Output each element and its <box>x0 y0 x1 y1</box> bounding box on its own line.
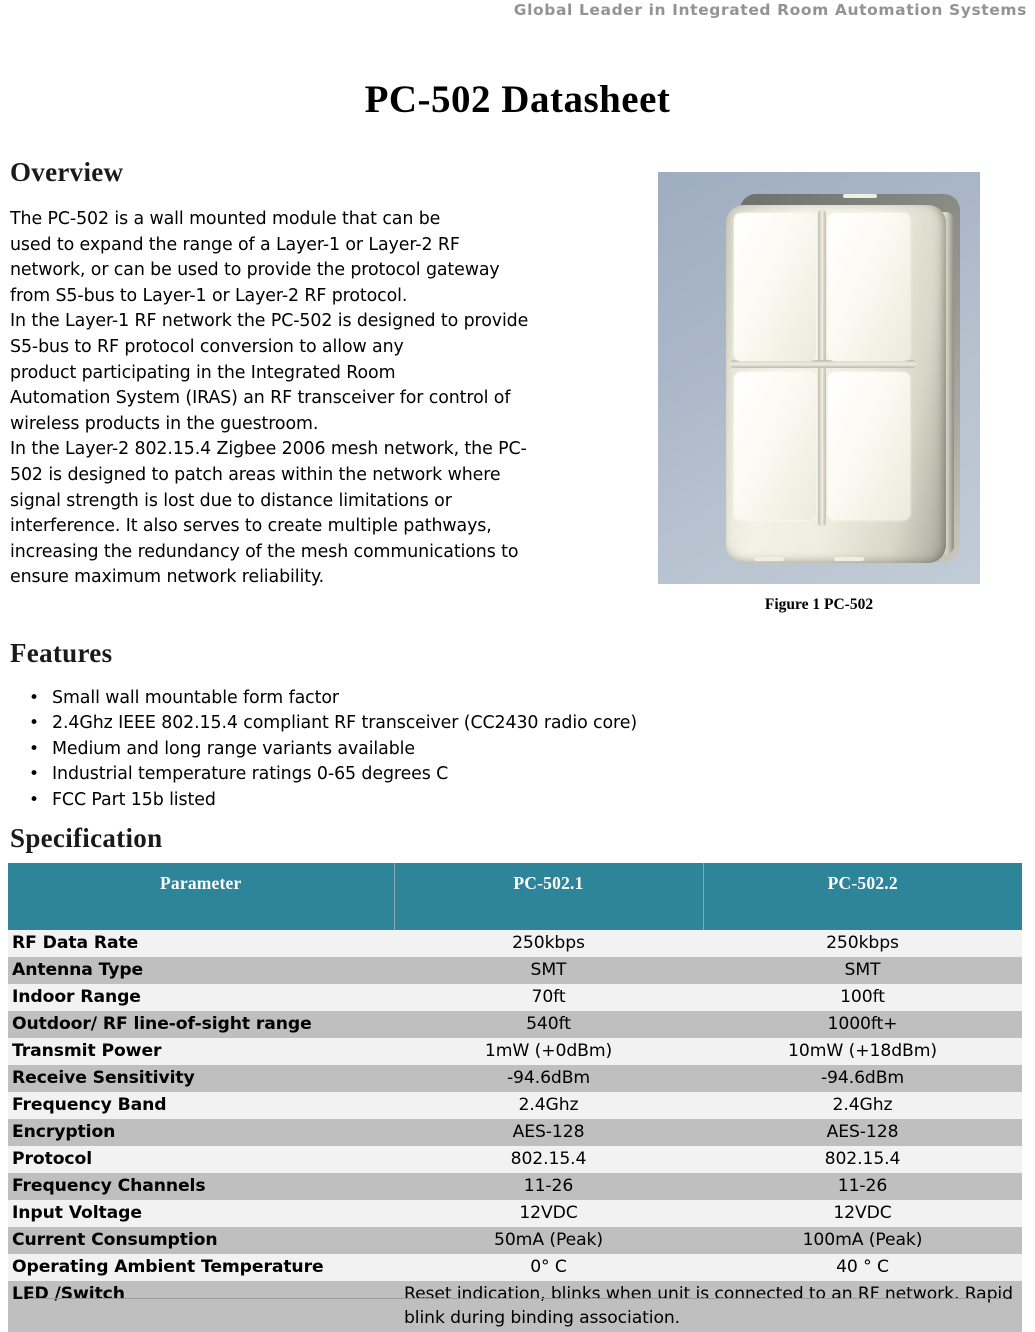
cell-pc502-2: 2.4Ghz <box>703 1092 1022 1119</box>
table-row: Transmit Power 1mW (+0dBm) 10mW (+18dBm) <box>8 1038 1022 1065</box>
overview-body-text: The PC-502 is a wall mounted module that… <box>10 207 658 591</box>
cell-parameter: Current Consumption <box>8 1227 394 1254</box>
device-notch-bottom-right <box>834 557 864 561</box>
cell-pc502-2: 40 ° C <box>703 1254 1022 1281</box>
cell-parameter: Operating Ambient Temperature <box>8 1254 394 1281</box>
bullet-icon: • <box>29 788 39 813</box>
list-item: • Medium and long range variants availab… <box>10 737 810 762</box>
device-pad-bottom-left <box>734 372 816 520</box>
cell-pc502-1: 2.4Ghz <box>394 1092 703 1119</box>
bullet-icon: • <box>29 711 39 736</box>
footer-divider <box>28 1298 1006 1299</box>
device-pad-bottom-right <box>828 372 910 520</box>
section-heading-features: Features <box>10 637 112 669</box>
table-row: Frequency Band 2.4Ghz 2.4Ghz <box>8 1092 1022 1119</box>
cell-parameter: RF Data Rate <box>8 930 394 957</box>
cell-pc502-2: AES-128 <box>703 1119 1022 1146</box>
cell-parameter: Antenna Type <box>8 957 394 984</box>
table-row: Frequency Channels 11-26 11-26 <box>8 1173 1022 1200</box>
list-item: • Industrial temperature ratings 0-65 de… <box>10 762 810 787</box>
page-title: PC-502 Datasheet <box>0 78 1035 122</box>
cell-pc502-2: 250kbps <box>703 930 1022 957</box>
device-pad-top-right <box>828 213 910 361</box>
features-list: • Small wall mountable form factor • 2.4… <box>10 686 810 813</box>
cell-pc502-2: -94.6dBm <box>703 1065 1022 1092</box>
device-notch-bottom-left <box>754 557 784 561</box>
list-item-label: FCC Part 15b listed <box>52 790 216 810</box>
cell-pc502-1: -94.6dBm <box>394 1065 703 1092</box>
bullet-icon: • <box>29 762 39 787</box>
device-groove-horizontal <box>730 360 916 368</box>
list-item-label: Industrial temperature ratings 0-65 degr… <box>52 764 448 784</box>
cell-pc502-2: 10mW (+18dBm) <box>703 1038 1022 1065</box>
cell-parameter: Frequency Band <box>8 1092 394 1119</box>
cell-pc502-1: 802.15.4 <box>394 1146 703 1173</box>
cell-pc502-1: 12VDC <box>394 1200 703 1227</box>
list-item: • FCC Part 15b listed <box>10 788 810 813</box>
table-row: Receive Sensitivity -94.6dBm -94.6dBm <box>8 1065 1022 1092</box>
cell-pc502-1: 50mA (Peak) <box>394 1227 703 1254</box>
column-header-pc502-1: PC-502.1 <box>394 863 703 930</box>
cell-pc502-1: 70ft <box>394 984 703 1011</box>
cell-parameter: Outdoor/ RF line-of-sight range <box>8 1011 394 1038</box>
cell-parameter: Receive Sensitivity <box>8 1065 394 1092</box>
cell-pc502-2: 11-26 <box>703 1173 1022 1200</box>
table-header-row: Parameter PC-502.1 PC-502.2 <box>8 863 1022 930</box>
cell-pc502-1: 1mW (+0dBm) <box>394 1038 703 1065</box>
device-groove-vertical <box>818 210 826 526</box>
cell-pc502-1: 0° C <box>394 1254 703 1281</box>
cell-pc502-2: 1000ft+ <box>703 1011 1022 1038</box>
cell-pc502-2: 100ft <box>703 984 1022 1011</box>
cell-pc502-1: AES-128 <box>394 1119 703 1146</box>
list-item-label: Small wall mountable form factor <box>52 688 339 708</box>
list-item: • Small wall mountable form factor <box>10 686 810 711</box>
cell-parameter: Indoor Range <box>8 984 394 1011</box>
cell-pc502-1: 11-26 <box>394 1173 703 1200</box>
column-header-parameter: Parameter <box>8 863 394 930</box>
cell-parameter: Transmit Power <box>8 1038 394 1065</box>
figure-caption: Figure 1 PC-502 <box>658 596 980 614</box>
device-notch-top <box>843 194 877 198</box>
table-row: RF Data Rate 250kbps 250kbps <box>8 930 1022 957</box>
cell-pc502-1: 250kbps <box>394 930 703 957</box>
cell-pc502-2: 802.15.4 <box>703 1146 1022 1173</box>
cell-pc502-2: 12VDC <box>703 1200 1022 1227</box>
cell-parameter: Input Voltage <box>8 1200 394 1227</box>
cell-pc502-2: 100mA (Peak) <box>703 1227 1022 1254</box>
cell-pc502-1: SMT <box>394 957 703 984</box>
table-row: Antenna Type SMT SMT <box>8 957 1022 984</box>
specification-table: Parameter PC-502.1 PC-502.2 RF Data Rate… <box>8 863 1022 1332</box>
cell-parameter: Protocol <box>8 1146 394 1173</box>
table-row: Input Voltage 12VDC 12VDC <box>8 1200 1022 1227</box>
section-heading-specification: Specification <box>10 822 162 854</box>
table-row: Encryption AES-128 AES-128 <box>8 1119 1022 1146</box>
table-row: Protocol 802.15.4 802.15.4 <box>8 1146 1022 1173</box>
table-row: Outdoor/ RF line-of-sight range 540ft 10… <box>8 1011 1022 1038</box>
cell-parameter: Frequency Channels <box>8 1173 394 1200</box>
table-row: Indoor Range 70ft 100ft <box>8 984 1022 1011</box>
cell-pc502-2: SMT <box>703 957 1022 984</box>
device-pad-top-left <box>734 213 816 361</box>
table-row: Operating Ambient Temperature 0° C 40 ° … <box>8 1254 1022 1281</box>
table-row: Current Consumption 50mA (Peak) 100mA (P… <box>8 1227 1022 1254</box>
list-item: • 2.4Ghz IEEE 802.15.4 compliant RF tran… <box>10 711 810 736</box>
section-heading-overview: Overview <box>10 156 123 188</box>
list-item-label: Medium and long range variants available <box>52 739 415 759</box>
bullet-icon: • <box>29 686 39 711</box>
cell-pc502-1: 540ft <box>394 1011 703 1038</box>
cell-parameter: Encryption <box>8 1119 394 1146</box>
product-image <box>658 172 980 584</box>
company-tagline: Global Leader in Integrated Room Automat… <box>514 1 1027 19</box>
column-header-pc502-2: PC-502.2 <box>703 863 1022 930</box>
list-item-label: 2.4Ghz IEEE 802.15.4 compliant RF transc… <box>52 713 637 733</box>
bullet-icon: • <box>29 737 39 762</box>
page-running-header: Global Leader in Integrated Room Automat… <box>0 0 1035 24</box>
